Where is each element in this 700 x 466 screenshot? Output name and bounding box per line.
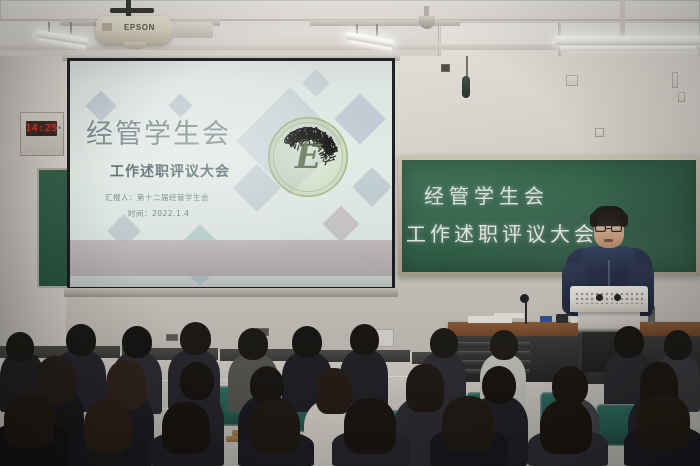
wall-box-right-2: [678, 92, 685, 102]
side-blackboard-panel: [37, 168, 70, 288]
audience-head: [636, 394, 690, 450]
glasses-left-lens: [595, 225, 606, 232]
audience-head: [482, 366, 516, 404]
desk-dark-object: [556, 314, 568, 323]
led-clock-icon: 14:25: [26, 121, 57, 136]
glasses-right-lens: [611, 225, 622, 232]
audience-head: [84, 400, 132, 452]
slide-diamond: [85, 90, 116, 121]
slide-diamond: [302, 69, 330, 97]
lectern-knob[interactable]: [596, 294, 603, 301]
audience-head: [6, 332, 34, 362]
audience-head: [292, 326, 322, 358]
slide-presenter-line: 汇报人：第十二届经管学生会: [105, 192, 209, 203]
power-socket-icon[interactable]: [595, 128, 604, 137]
hanging-microphone-icon: [462, 76, 470, 98]
wall-speaker-icon-2: [166, 334, 178, 341]
audience-head: [250, 366, 284, 404]
blackboard-line-1: 经管学生会: [424, 180, 549, 209]
projector-lens-icon: [124, 42, 146, 49]
audience-head: [66, 324, 96, 356]
lectern-knob-2[interactable]: [614, 294, 621, 301]
projector-epson: EPSON: [96, 16, 172, 44]
ceiling-rail-2: [310, 20, 460, 26]
slide-diamond: [323, 206, 360, 243]
projector-vent: [102, 23, 112, 31]
slide-diamond: [168, 93, 192, 117]
audience-head: [316, 368, 352, 414]
slide-diamond: [352, 167, 392, 207]
lectern-top: [570, 286, 648, 312]
audience-head: [180, 322, 211, 355]
classroom-scene: EPSON 14:25: [0, 0, 700, 466]
gooseneck-microphone-icon: [520, 294, 529, 303]
audience-head: [350, 324, 379, 355]
clock-indicator-led: [58, 126, 61, 129]
audience-head: [250, 400, 300, 454]
audience-head: [162, 402, 210, 454]
clock-digits: 14:25: [26, 123, 57, 134]
light-switch-icon[interactable]: [566, 75, 578, 86]
audience-head: [238, 328, 268, 360]
audience-head: [344, 398, 396, 454]
emblem-letter-mark: E: [287, 136, 329, 178]
school-emblem: 经管学生会·校徽SCHOOL OF ECONOMICS AND MANAGEME…: [268, 117, 348, 197]
audience-head: [430, 328, 458, 358]
lectern-speaker-grille: [575, 292, 643, 304]
projector-brand-label: EPSON: [124, 23, 155, 32]
slide-date-line: 时间：2022.1.4: [128, 208, 189, 219]
projection-screen-lower-band: [70, 240, 392, 276]
wall-box-right: [672, 72, 678, 88]
projector-ceiling-arm: [171, 22, 213, 38]
slide-title: 经管学生会: [86, 121, 231, 148]
audience-head: [4, 394, 54, 448]
presenter-mouth: [604, 239, 613, 242]
hanging-microphone-wire: [466, 56, 468, 78]
desk-blue-device: [540, 316, 552, 322]
slide-subtitle: 工作述职评议大会: [110, 161, 230, 181]
projection-screen-bottom-bar: [64, 288, 398, 297]
audience-head: [664, 330, 692, 360]
audience-head: [180, 362, 214, 400]
audience-head: [122, 326, 152, 358]
audience-head: [406, 364, 444, 412]
projector-mount-bracket: [110, 8, 154, 13]
audience-head: [540, 400, 592, 454]
wall-vent-icon: [441, 64, 450, 72]
audience-head: [442, 396, 494, 452]
presenter-glasses-icon: [595, 225, 623, 232]
desk-papers-2: [494, 313, 524, 318]
gooseneck-microphone-stand: [525, 300, 527, 324]
audience-head: [490, 330, 518, 360]
audience-head: [614, 326, 644, 358]
